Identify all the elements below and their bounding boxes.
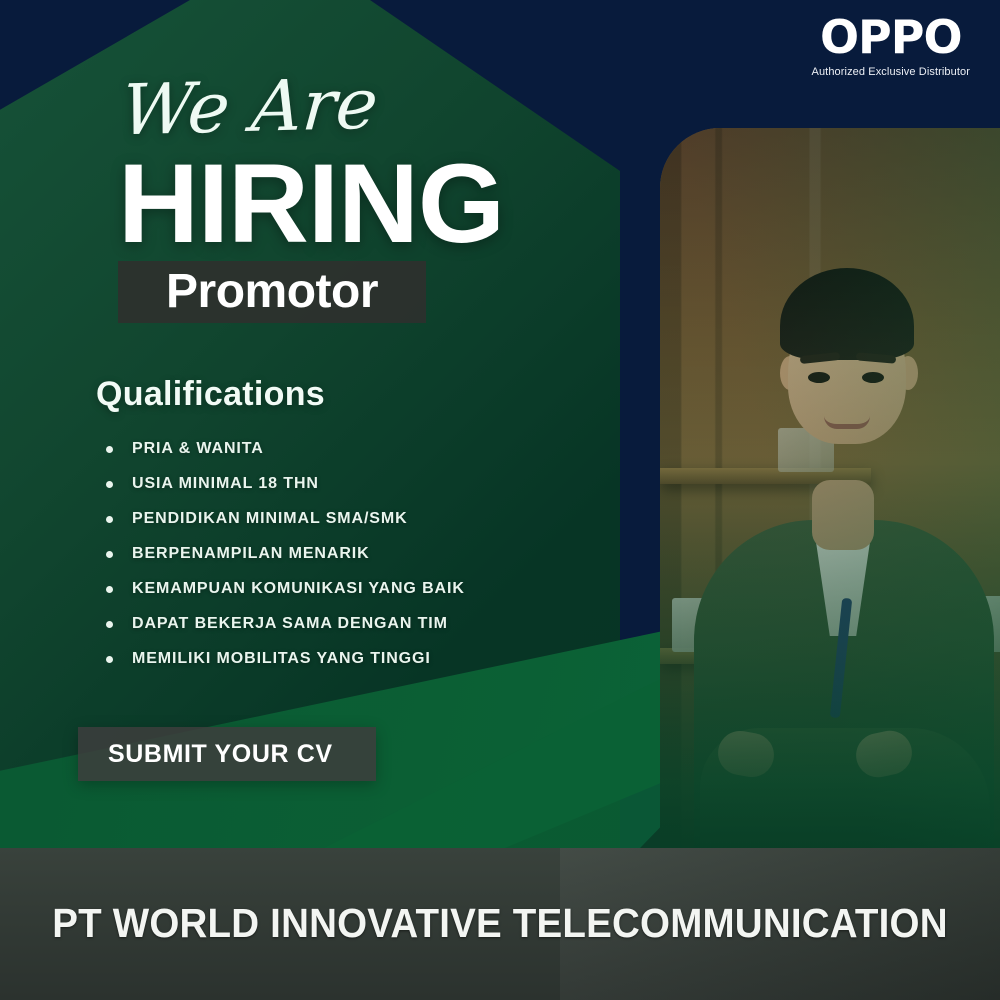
- qualifications-list: PRIA & WANITA USIA MINIMAL 18 THN PENDID…: [100, 440, 620, 685]
- oppo-wordmark-icon: OPPO: [812, 14, 970, 60]
- list-item: PRIA & WANITA: [100, 440, 620, 458]
- candidate-photo: [660, 128, 1000, 856]
- company-name: PT WORLD INNOVATIVE TELECOMMUNICATION: [30, 900, 970, 947]
- position-label: Promotor: [166, 268, 378, 316]
- list-item: BERPENAMPILAN MENARIK: [100, 545, 620, 563]
- list-item: PENDIDIKAN MINIMAL SMA/SMK: [100, 510, 620, 528]
- oppo-logo: OPPO Authorized Exclusive Distributor: [812, 14, 970, 78]
- list-item: USIA MINIMAL 18 THN: [100, 475, 620, 493]
- qualifications-heading: Qualifications: [96, 375, 325, 414]
- headline-title: HIRING: [118, 148, 504, 260]
- list-item: DAPAT BEKERJA SAMA DENGAN TIM: [100, 615, 620, 633]
- position-badge: Promotor: [118, 261, 426, 323]
- headline-eyebrow: We Are: [119, 69, 380, 146]
- submit-cv-label: SUBMIT YOUR CV: [78, 740, 333, 769]
- photo-image: [660, 128, 1000, 856]
- list-item: MEMILIKI MOBILITAS YANG TINGGI: [100, 650, 620, 668]
- list-item: KEMAMPUAN KOMUNIKASI YANG BAIK: [100, 580, 620, 598]
- oppo-tagline: Authorized Exclusive Distributor: [812, 66, 970, 78]
- footer-band: PT WORLD INNOVATIVE TELECOMMUNICATION: [0, 848, 1000, 1000]
- photo-green-tint-side: [660, 128, 1000, 856]
- submit-cv-button[interactable]: SUBMIT YOUR CV: [78, 727, 376, 781]
- recruitment-poster: OPPO Authorized Exclusive Distributor We…: [0, 0, 1000, 1000]
